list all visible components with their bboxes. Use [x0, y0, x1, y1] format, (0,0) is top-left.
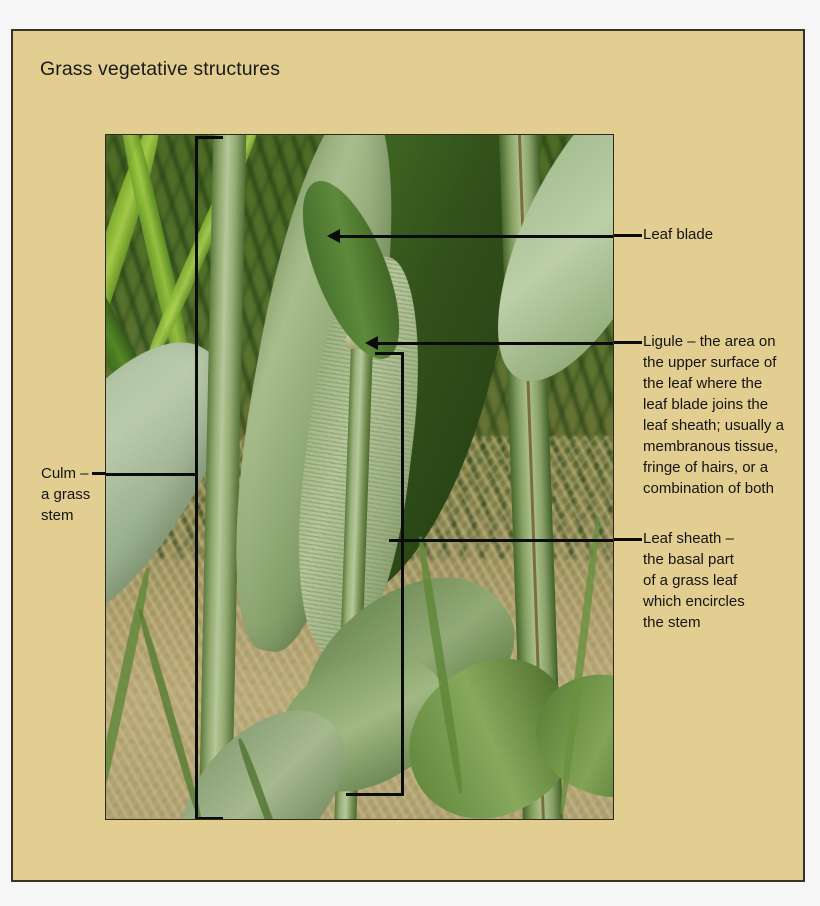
grass-stem-photograph [105, 134, 614, 820]
leaf-blade-arrow-line [339, 235, 614, 238]
culm-bracket-top-tick [195, 136, 223, 139]
page-title: Grass vegetative structures [40, 58, 280, 81]
leaf-blade-leader-line-outer [614, 234, 642, 237]
ligule-arrowhead [365, 336, 378, 350]
label-leaf-blade: Leaf blade [643, 224, 713, 245]
label-ligule: Ligule – the area on the upper surface o… [643, 331, 813, 499]
slide-canvas: Grass vegetative structures [11, 29, 805, 882]
leaf-sheath-bracket-top-tick [375, 352, 404, 355]
culm-bracket-vertical [195, 136, 198, 820]
leaf-blade-arrowhead [327, 229, 340, 243]
label-leaf-sheath: Leaf sheath – the basal part of a grass … [643, 528, 803, 633]
culm-bracket-bottom-tick [195, 817, 223, 820]
ligule-leader-line-outer [614, 341, 642, 344]
label-culm: Culm – a grass stem [41, 463, 121, 526]
leaf-sheath-leader-line-outer [614, 538, 642, 541]
ligule-arrow-line [378, 342, 614, 345]
leaf-sheath-leader-line-inner [389, 539, 614, 542]
leaf-sheath-bracket-vertical [401, 352, 404, 796]
leaf-sheath-bracket-bottom-tick [346, 793, 404, 796]
